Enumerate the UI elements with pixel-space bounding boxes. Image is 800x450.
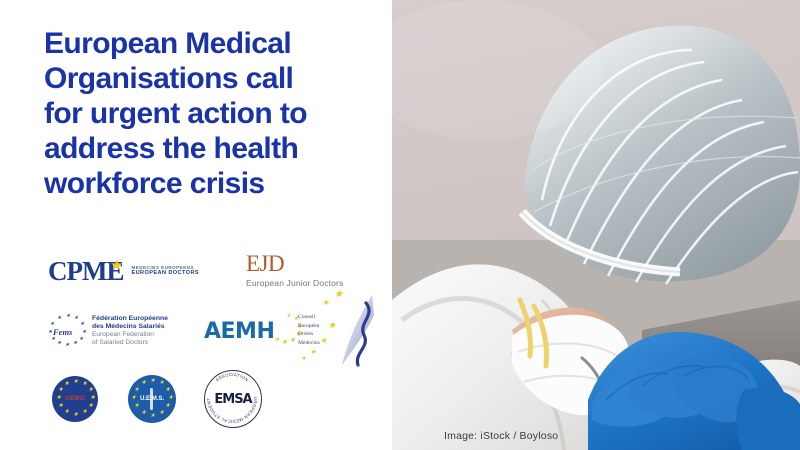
fems-line-1: Fédération Européenne — [92, 315, 168, 323]
logo-fems[interactable]: ★ ★ ★ ★ ★ ★ ★ ★ ★ ★ ★ ★ Fems — [48, 309, 188, 353]
uemo-wordmark: UEMO — [52, 395, 98, 402]
ejd-subtitle: European Junior Doctors — [246, 278, 343, 288]
logo-aemh[interactable]: AEMH ★ ★ ★ ★ ★ ★ ★ — [204, 311, 292, 351]
logo-ejd[interactable]: EJD European Junior Doctors — [246, 252, 378, 290]
page-title: European Medical Organisations call for … — [44, 26, 380, 201]
fems-wordmark: Fems — [53, 327, 72, 337]
cpme-tagline-en: EUROPEAN DOCTORS — [131, 270, 199, 276]
star-icon: ★ — [110, 259, 123, 272]
ceom-line-4: Médecins — [298, 339, 320, 348]
logo-row-3: ★ ★ ★ ★ ★ ★ ★ ★ ★ ★ ★ ★ UEMO ★ ★ — [52, 364, 390, 434]
logo-row-2: ★ ★ ★ ★ ★ ★ ★ ★ ★ ★ ★ ★ Fems — [48, 308, 390, 354]
organisation-logos: CPME ★ MEDECINS EUROPEENS EUROPEAN DOCTO… — [44, 252, 390, 437]
image-credit: Image: iStock / Boyloso — [444, 430, 558, 442]
left-content-panel: European Medical Organisations call for … — [0, 0, 392, 450]
logo-row-1: CPME ★ MEDECINS EUROPEENS EUROPEAN DOCTO… — [48, 252, 390, 290]
fems-tagline: Fédération Européenne des Médecins Salar… — [92, 315, 168, 346]
healthcare-worker-illustration — [392, 0, 800, 450]
ceom-line-3: Ordres — [298, 330, 320, 339]
ceom-line-1: Conseil — [298, 313, 320, 322]
emsa-wordmark: EMSA — [202, 392, 264, 407]
eu-star-circle-icon: ★ ★ ★ ★ ★ ★ ★ ★ ★ ★ ★ ★ Fems — [48, 314, 88, 348]
logo-uems[interactable]: ★ ★ ★ ★ ★ ★ ★ ★ ★ ★ ★ ★ U.E.M.S. — [128, 375, 176, 423]
cpme-tagline: MEDECINS EUROPEENS EUROPEAN DOCTORS — [131, 265, 199, 276]
banner: European Medical Organisations call for … — [0, 0, 800, 450]
caduceus-swoosh-icon — [336, 293, 382, 371]
logo-cpme[interactable]: CPME ★ MEDECINS EUROPEENS EUROPEAN DOCTO… — [48, 254, 210, 288]
ejd-wordmark: EJD — [246, 252, 284, 275]
logo-ceom[interactable]: Conseil Européen Ordres Médecins ★ ★ ★ ★… — [296, 291, 388, 371]
logo-emsa[interactable]: ASSOCIATION EUROPEAN MEDICAL STUDENTS' E… — [202, 368, 264, 430]
fems-line-3: European Federation — [92, 331, 168, 339]
emsa-ring-text-top: ASSOCIATION — [215, 372, 250, 383]
fems-line-4: of Salaried Doctors — [92, 339, 168, 347]
logo-uemo[interactable]: ★ ★ ★ ★ ★ ★ ★ ★ ★ ★ ★ ★ UEMO — [52, 376, 98, 422]
fems-line-2: des Médecins Salariés — [92, 323, 168, 331]
ceom-text: Conseil Européen Ordres Médecins — [298, 313, 320, 348]
star-arc-icon: ★ ★ ★ ★ ★ ★ ★ — [274, 313, 292, 349]
hero-photo: Image: iStock / Boyloso — [392, 0, 800, 450]
ceom-line-2: Européen — [298, 322, 320, 331]
uems-wordmark: U.E.M.S. — [128, 395, 176, 402]
aemh-wordmark: AEMH — [204, 319, 274, 344]
